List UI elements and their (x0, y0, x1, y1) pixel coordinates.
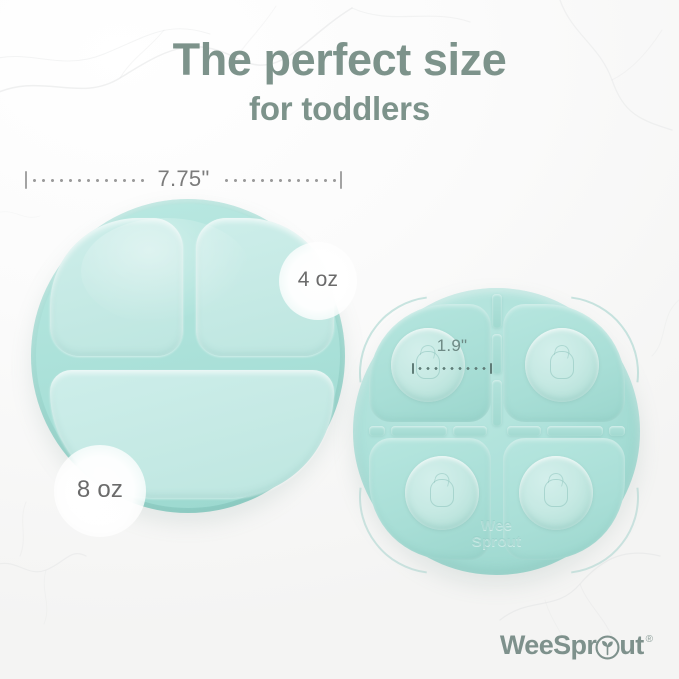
brand-name-part-1: WeeSpr (500, 632, 596, 659)
rib-horizontal-left-outer (369, 426, 385, 436)
dimension-cap-right (340, 171, 342, 189)
product-image: The perfect size for toddlers 7.75" (0, 0, 679, 679)
page-title: The perfect size for toddlers (0, 36, 679, 127)
dimension-cap-left (412, 363, 414, 374)
rib-horizontal-left-2 (453, 426, 487, 436)
rib-vertical-mid (492, 334, 502, 374)
dimension-dots-right (222, 179, 337, 182)
dimension-cap-right (490, 363, 492, 374)
sprout-icon (595, 635, 620, 660)
plate-width-dimension: 7.75" (25, 167, 342, 193)
suction-cup-nub (550, 351, 574, 379)
plate-width-label: 7.75" (148, 166, 218, 192)
rib-vertical-lower (492, 380, 502, 426)
compartment-top-left (50, 218, 183, 356)
dimension-cap-left (25, 171, 27, 189)
suction-cup-top-right (525, 328, 599, 402)
suction-cup-size-label: 1.9" (437, 336, 467, 356)
rib-vertical-upper (492, 294, 502, 328)
capacity-badge-8oz: 8 oz (54, 445, 146, 537)
suction-cup-dimension: 1.9" (412, 338, 492, 376)
capacity-badge-8oz-label: 8 oz (77, 476, 123, 504)
suction-cup-nub (430, 479, 454, 507)
suction-cup-bottom-right (519, 456, 593, 530)
dimension-dots-left (30, 179, 145, 182)
suction-cup-dimension-rule (412, 362, 492, 374)
rib-horizontal-left-1 (391, 426, 447, 436)
suction-cup-nub (544, 479, 568, 507)
brand-wordmark: WeeSpr ut (500, 632, 644, 659)
rib-horizontal-right-outer (609, 426, 625, 436)
rib-horizontal-right-1 (507, 426, 541, 436)
dimension-dots (416, 367, 488, 370)
rib-horizontal-right-2 (547, 426, 603, 436)
headline-line-2: for toddlers (0, 92, 679, 127)
capacity-badge-4oz-label: 4 oz (298, 268, 339, 292)
toddler-plate-back-suction: Wee Sprout (353, 288, 640, 575)
capacity-badge-4oz: 4 oz (279, 242, 357, 320)
headline-line-1: The perfect size (0, 36, 679, 84)
brand-name-part-2: ut (619, 632, 643, 659)
suction-cup-bottom-left (405, 456, 479, 530)
brand-logo: WeeSpr ut ® (500, 632, 653, 659)
registered-trademark-icon: ® (646, 634, 653, 645)
